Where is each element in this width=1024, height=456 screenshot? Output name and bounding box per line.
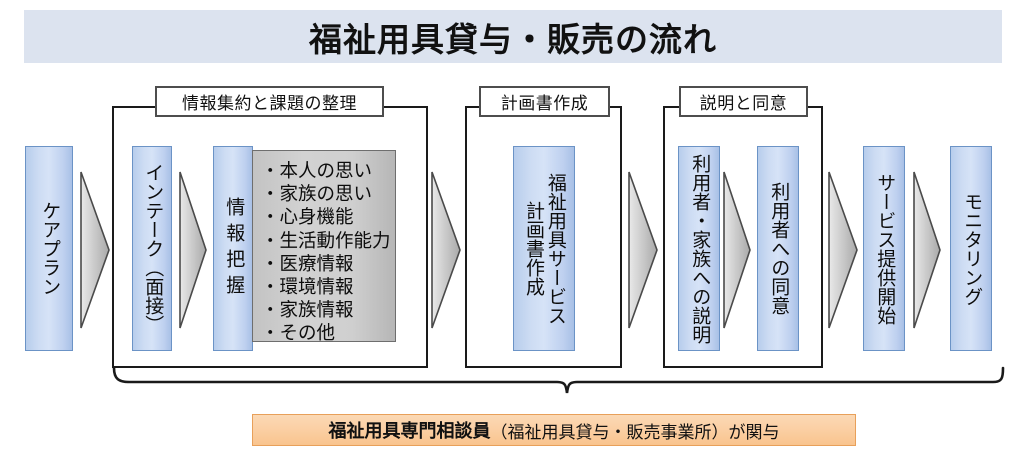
list-item: ・心身機能 [261,205,389,228]
step-box-monitoring[interactable]: モニタリング [950,146,992,351]
step-label-agreement: 利用者への同意 [768,182,789,315]
step-label-intake: インテーク（面接） [142,163,163,334]
flow-arrow-icon [79,170,111,330]
flow-arrow-icon [912,170,942,330]
step-label-monitoring: モニタリング [961,192,982,306]
welfare-plan-line2: 計画書作成 [523,201,544,296]
footer-emphasis: 福祉用具専門相談員 [329,417,491,443]
section-label-consent: 説明と同意 [679,86,808,117]
step-box-service-start[interactable]: サービス提供開始 [863,146,905,351]
footer-banner: 福祉用具専門相談員（福祉用具貸与・販売事業所）が関与 [252,414,856,446]
step-box-intake[interactable]: インテーク（面接） [132,146,172,351]
welfare-plan-line1: 福祉用具サービス [545,173,566,325]
list-item: ・その他 [261,321,389,344]
scope-brace [105,366,1010,400]
flow-arrow-icon [430,170,462,330]
flow-arrow-icon [722,170,752,330]
frame-top-right-segment [380,106,428,108]
step-box-info-grasp[interactable]: 情報把握 [213,146,253,351]
frame-top-left-segment [112,106,160,108]
section-label-plan: 計画書作成 [479,86,610,117]
step-box-explanation[interactable]: 利用者・家族への説明 [678,146,720,351]
list-item: ・生活動作能力 [261,229,389,252]
step-box-agreement[interactable]: 利用者への同意 [757,146,799,351]
step-label-info-grasp: 情報把握 [223,197,244,301]
brace-icon [105,366,1010,400]
page-title: 福祉用具貸与・販売の流れ [309,13,717,61]
step-box-welfare-plan[interactable]: 福祉用具サービス計画書作成 [513,146,575,351]
step-label-explanation: 利用者・家族への説明 [689,154,710,344]
list-item: ・家族情報 [261,298,389,321]
step-label-service-start: サービス提供開始 [874,173,895,325]
flow-arrow-icon [627,170,659,330]
section-label-info: 情報集約と課題の整理 [155,86,384,117]
flow-arrow-icon [827,170,859,330]
footer-rest: （福祉用具貸与・販売事業所）が関与 [491,418,780,443]
flow-arrow-icon [178,170,208,330]
list-item: ・家族の思い [261,182,389,205]
step-label-care-plan: ケアプラン [39,201,60,296]
assessment-items: ・本人の思い ・家族の思い ・心身機能 ・生活動作能力 ・医療情報 ・環境情報 … [261,159,389,345]
step-box-care-plan[interactable]: ケアプラン [25,146,73,351]
list-item: ・本人の思い [261,159,389,182]
list-item: ・医療情報 [261,252,389,275]
list-item: ・環境情報 [261,275,389,298]
diagram-title-banner: 福祉用具貸与・販売の流れ [24,10,1002,63]
assessment-item-list: ・本人の思い ・家族の思い ・心身機能 ・生活動作能力 ・医療情報 ・環境情報 … [252,150,396,342]
step-label-welfare-plan: 福祉用具サービス計画書作成 [522,163,566,335]
diagram-canvas: 福祉用具貸与・販売の流れ 情報集約と課題の整理 計画書作成 説明と同意 ケアプラ… [0,0,1024,456]
